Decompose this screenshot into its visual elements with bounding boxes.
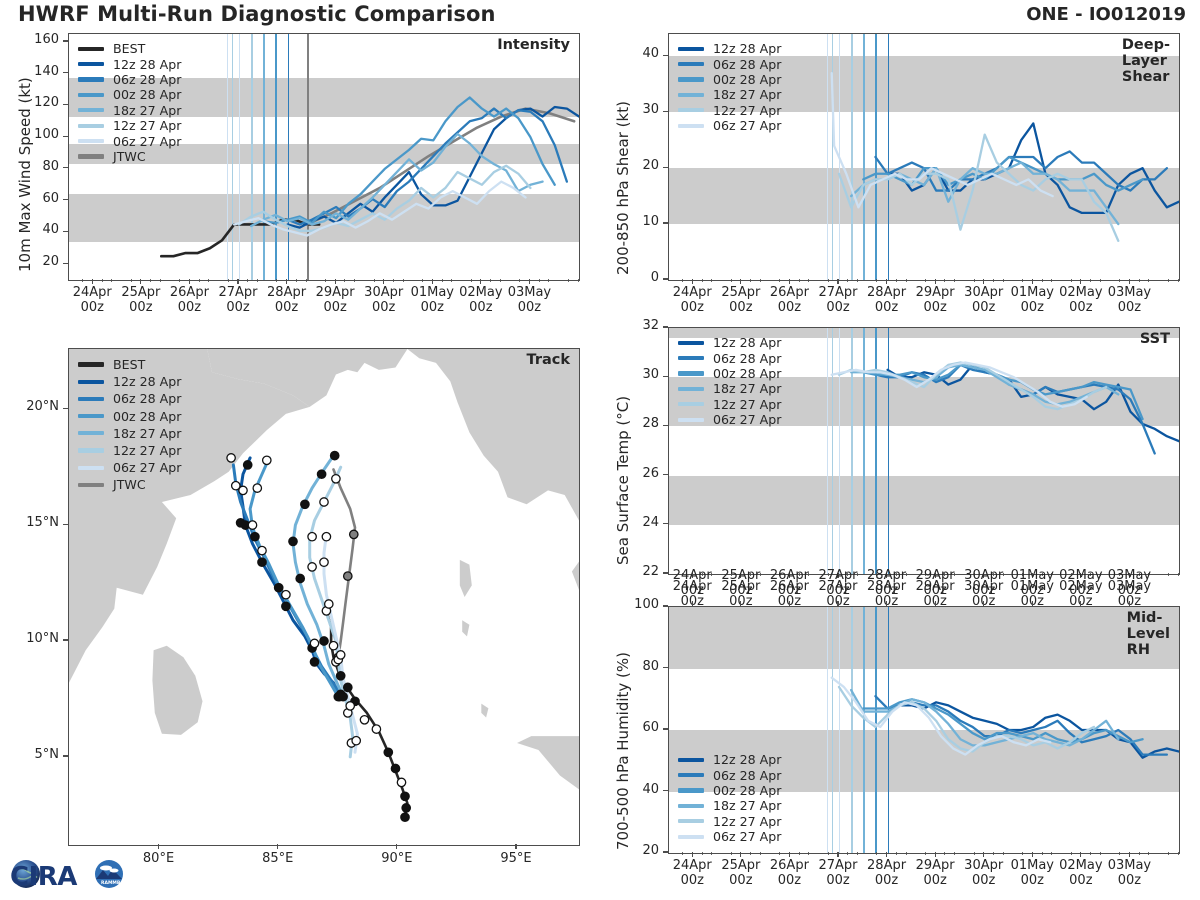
legend-item: 06z 28 Apr	[678, 56, 781, 71]
legend-color-swatch	[678, 773, 704, 777]
legend-color-swatch	[678, 758, 704, 762]
legend-color-swatch	[78, 362, 104, 366]
legend-color-swatch	[78, 108, 104, 112]
shear-y-axis-title: 200-850 hPa Shear (kt)	[614, 101, 632, 275]
legend-item: BEST	[78, 41, 181, 56]
y-tick-label: 80	[42, 159, 59, 174]
legend-color-swatch	[678, 371, 704, 375]
legend-color-swatch	[678, 77, 704, 81]
legend-track: BEST12z 28 Apr06z 28 Apr00z 28 Apr18z 27…	[78, 356, 181, 494]
y-tick-label: 80	[642, 659, 659, 674]
x-tick-label: 03May00z	[1093, 286, 1165, 316]
legend-color-swatch	[78, 397, 104, 401]
legend-label: 12z 28 Apr	[713, 752, 781, 767]
legend-item: JTWC	[78, 149, 181, 164]
legend-item: 12z 28 Apr	[78, 56, 181, 71]
track-point-marker	[232, 482, 240, 490]
legend-color-swatch	[78, 124, 104, 128]
legend-label: 18z 27 Apr	[713, 381, 781, 396]
x-tick-label: 02May00z	[1045, 859, 1117, 889]
series-line	[832, 362, 1087, 406]
y-tick-label: 32	[642, 318, 659, 333]
x-tick-label: 25Apr00z	[105, 286, 177, 316]
cira-logo: CIRA RAMMB	[6, 848, 124, 896]
lat-tick-label: 5°N	[35, 747, 60, 762]
landmass-sri-lanka	[152, 646, 202, 735]
legend-label: 06z 28 Apr	[713, 351, 781, 366]
legend-color-swatch	[78, 431, 104, 435]
legend-label: 12z 28 Apr	[113, 374, 181, 389]
legend-color-swatch	[678, 356, 704, 360]
legend-color-swatch	[78, 47, 104, 51]
legend-label: 06z 27 Apr	[113, 460, 181, 475]
track-point-marker	[397, 778, 405, 786]
legend-label: 12z 27 Apr	[113, 118, 181, 133]
x-tick-label: 01May00z	[996, 859, 1068, 889]
legend-color-swatch	[78, 483, 104, 487]
svg-text:CIRA: CIRA	[10, 862, 77, 892]
track-point-marker	[346, 702, 354, 710]
track-point-marker	[301, 500, 309, 508]
track-point-marker	[244, 461, 252, 469]
track-point-marker	[258, 558, 266, 566]
legend-color-swatch	[78, 448, 104, 452]
track-point-marker	[339, 693, 347, 701]
y-tick-label: 40	[642, 782, 659, 797]
lon-tick-label: 80°E	[123, 852, 195, 867]
series-line	[161, 220, 319, 257]
track-point-marker	[320, 498, 328, 506]
track-point-marker	[391, 764, 399, 772]
x-tick-label: 26Apr00z	[753, 286, 825, 316]
x-tick-label: 26Apr00z	[753, 859, 825, 889]
legend-color-swatch	[678, 804, 704, 808]
x-tick-label: 03May00z	[493, 286, 565, 316]
series-line	[863, 157, 1142, 191]
legend-item: 06z 27 Apr	[678, 412, 781, 427]
x-tick-label: 30Apr00z	[948, 286, 1020, 316]
track-point-marker	[227, 454, 235, 462]
track-point-marker	[263, 456, 271, 464]
legend-item: 12z 27 Apr	[678, 103, 781, 118]
x-tick-label: 24Apr00z	[656, 286, 728, 316]
track-point-marker	[360, 716, 368, 724]
y-tick-label: 60	[642, 720, 659, 735]
page-title: HWRF Multi-Run Diagnostic Comparison	[18, 2, 496, 26]
lon-tick-label: 95°E	[480, 852, 552, 867]
track-point-marker	[344, 572, 352, 580]
legend-label: 18z 27 Apr	[713, 798, 781, 813]
lat-tick-label: 20°N	[26, 399, 59, 414]
x-tick-label: 30Apr00z	[948, 859, 1020, 889]
track-point-marker	[248, 521, 256, 529]
legend-color-swatch	[678, 418, 704, 422]
lat-tick-label: 10°N	[26, 631, 59, 646]
legend-color-swatch	[678, 387, 704, 391]
x-tick-label: 24Apr00z	[656, 859, 728, 889]
legend-label: 00z 28 Apr	[713, 366, 781, 381]
legend-item: 18z 27 Apr	[78, 103, 181, 118]
legend-item: 06z 27 Apr	[78, 133, 181, 148]
track-point-marker	[282, 602, 290, 610]
legend-color-swatch	[678, 402, 704, 406]
track-point-marker	[402, 804, 410, 812]
landmass-myanmar	[407, 349, 580, 590]
y-tick-label: 140	[34, 64, 59, 79]
track-point-marker	[384, 748, 392, 756]
legend-item: 12z 27 Apr	[678, 397, 781, 412]
landmass-nicobar	[481, 704, 488, 718]
legend-item: 06z 28 Apr	[78, 390, 181, 407]
legend-item: 12z 28 Apr	[78, 373, 181, 390]
legend-label: 12z 27 Apr	[113, 443, 181, 458]
y-tick-label: 120	[34, 95, 59, 110]
legend-color-swatch	[678, 93, 704, 97]
series-line	[251, 134, 542, 226]
x-tick-label: 28Apr00z	[251, 286, 323, 316]
legend-item: 00z 28 Apr	[78, 408, 181, 425]
legend-label: 00z 28 Apr	[713, 783, 781, 798]
x-tick-label: 26Apr00z	[153, 286, 225, 316]
x-tick-label: 01May00z	[996, 286, 1068, 316]
x-tick-label: 03May00z	[1093, 859, 1165, 889]
legend-color-swatch	[78, 62, 104, 66]
legend-item: 00z 28 Apr	[78, 87, 181, 102]
legend-item: 06z 28 Apr	[678, 350, 781, 365]
x-tick-label: 27Apr00z	[802, 286, 874, 316]
y-tick-label: 100	[634, 597, 659, 612]
x-tick-label: 25Apr00z	[705, 286, 777, 316]
track-point-marker	[275, 584, 283, 592]
legend-color-swatch	[78, 93, 104, 97]
legend-label: 00z 28 Apr	[113, 87, 181, 102]
x-tick-label: 24Apr00z	[56, 286, 128, 316]
track-point-marker	[320, 637, 328, 645]
legend-label: 12z 28 Apr	[713, 41, 781, 56]
legend-color-swatch	[78, 139, 104, 143]
legend-item: 06z 27 Apr	[678, 118, 781, 133]
x-tick-label: 27Apr00z	[202, 286, 274, 316]
legend-label: 12z 27 Apr	[713, 814, 781, 829]
lat-tick-label: 15°N	[26, 515, 59, 530]
y-tick-label: 100	[34, 127, 59, 142]
legend-item: 18z 27 Apr	[78, 425, 181, 442]
y-tick-label: 0	[651, 270, 659, 285]
legend-item: 12z 27 Apr	[78, 118, 181, 133]
track-point-marker	[253, 484, 261, 492]
legend-label: 12z 27 Apr	[713, 103, 781, 118]
rh-panel-label: Mid-Level RH	[1127, 610, 1170, 658]
legend-color-swatch	[78, 154, 104, 158]
track-point-marker	[310, 658, 318, 666]
track-point-marker	[325, 600, 333, 608]
legend-label: 12z 27 Apr	[713, 397, 781, 412]
track-point-marker	[337, 672, 345, 680]
track-point-marker	[332, 475, 340, 483]
legend-label: 06z 27 Apr	[713, 412, 781, 427]
track-point-marker	[322, 533, 330, 541]
track-point-marker	[401, 792, 409, 800]
legend-color-swatch	[678, 124, 704, 128]
track-panel-label: Track	[527, 352, 570, 368]
track-point-marker	[258, 546, 266, 554]
track-point-marker	[350, 530, 358, 538]
y-tick-label: 40	[42, 222, 59, 237]
track-point-marker	[344, 683, 352, 691]
track-point-marker	[337, 651, 345, 659]
track-point-marker	[308, 563, 316, 571]
legend-label: 12z 28 Apr	[713, 335, 781, 350]
legend-item: BEST	[78, 356, 181, 373]
legend-item: 12z 28 Apr	[678, 752, 781, 767]
track-point-marker	[282, 591, 290, 599]
legend-label: 06z 27 Apr	[713, 829, 781, 844]
track-point-marker	[372, 725, 380, 733]
legend-label: 18z 27 Apr	[113, 426, 181, 441]
track-point-marker	[320, 558, 328, 566]
shear-panel-label: Deep-Layer Shear	[1122, 37, 1170, 85]
legend-item: 00z 28 Apr	[678, 783, 781, 798]
legend-color-swatch	[78, 414, 104, 418]
track-point-marker	[310, 639, 318, 647]
legend-shear: 12z 28 Apr06z 28 Apr00z 28 Apr18z 27 Apr…	[678, 41, 781, 133]
lon-tick-label: 90°E	[361, 852, 433, 867]
x-tick-label: 25Apr00z	[705, 859, 777, 889]
landmass-sumatra	[517, 736, 579, 789]
x-tick-label: 28Apr00z	[851, 286, 923, 316]
x-tick-label: 29Apr00z	[899, 859, 971, 889]
track-point-marker	[308, 533, 316, 541]
legend-color-swatch	[678, 47, 704, 51]
y-tick-label: 20	[42, 254, 59, 269]
legend-label: 06z 28 Apr	[713, 768, 781, 783]
track-point-marker	[317, 470, 325, 478]
legend-label: JTWC	[113, 149, 146, 164]
x-tick-label: 27Apr00z	[802, 859, 874, 889]
legend-sst: 12z 28 Apr06z 28 Apr00z 28 Apr18z 27 Apr…	[678, 335, 781, 427]
track-point-marker	[251, 533, 259, 541]
y-tick-label: 160	[34, 32, 59, 47]
x-tick-label: 02May00z	[1045, 286, 1117, 316]
legend-item: 00z 28 Apr	[678, 72, 781, 87]
series-line	[307, 109, 574, 225]
track-point-marker	[289, 537, 297, 545]
sst-panel-label: SST	[1140, 331, 1170, 347]
sst-y-axis-title: Sea Surface Temp (°C)	[614, 396, 632, 565]
x-tick-label: 28Apr00z	[851, 859, 923, 889]
track-line	[334, 470, 356, 658]
legend-label: 06z 27 Apr	[713, 118, 781, 133]
legend-color-swatch	[78, 77, 104, 81]
y-tick-label: 26	[642, 466, 659, 481]
track-point-marker	[352, 737, 360, 745]
track-point-marker	[331, 451, 339, 459]
landmass-andaman	[460, 560, 472, 597]
x-tick-label: 29Apr00z	[899, 286, 971, 316]
legend-item: 06z 27 Apr	[678, 829, 781, 844]
legend-item: 06z 28 Apr	[678, 767, 781, 782]
legend-label: 06z 28 Apr	[113, 391, 181, 406]
legend-rh: 12z 28 Apr06z 28 Apr00z 28 Apr18z 27 Apr…	[678, 752, 781, 844]
x-tick-label: 02May00z	[445, 286, 517, 316]
legend-label: 18z 27 Apr	[113, 103, 181, 118]
legend-color-swatch	[678, 835, 704, 839]
legend-label: BEST	[113, 41, 145, 56]
legend-item: 12z 27 Apr	[678, 814, 781, 829]
legend-item: 00z 28 Apr	[678, 366, 781, 381]
legend-color-swatch	[678, 341, 704, 345]
track-point-marker	[329, 642, 337, 650]
legend-color-swatch	[78, 380, 104, 384]
y-tick-label: 24	[642, 515, 659, 530]
legend-item: 12z 27 Apr	[78, 442, 181, 459]
intensity-panel-label: Intensity	[497, 37, 570, 53]
x-tick-label: 29Apr00z	[299, 286, 371, 316]
y-tick-label: 10	[642, 214, 659, 229]
track-point-marker	[401, 813, 409, 821]
legend-item: 12z 28 Apr	[678, 335, 781, 350]
y-tick-label: 30	[642, 367, 659, 382]
storm-id-title: ONE - IO012019	[1026, 4, 1186, 25]
x-tick-label: 01May00z	[396, 286, 468, 316]
legend-color-swatch	[678, 62, 704, 66]
legend-label: 00z 28 Apr	[713, 72, 781, 87]
y-tick-label: 22	[642, 564, 659, 579]
legend-item: JTWC	[78, 476, 181, 493]
legend-color-swatch	[678, 819, 704, 823]
x-tick-label: 30Apr00z	[348, 286, 420, 316]
legend-label: JTWC	[113, 477, 146, 492]
legend-item: 18z 27 Apr	[678, 87, 781, 102]
intensity-y-axis-title: 10m Max Wind Speed (kt)	[16, 77, 34, 272]
track-point-marker	[296, 574, 304, 582]
series-line	[839, 135, 1118, 241]
legend-item: 18z 27 Apr	[678, 381, 781, 396]
rh-y-axis-title: 700-500 hPa Humidity (%)	[614, 652, 632, 850]
legend-label: 06z 28 Apr	[113, 72, 181, 87]
lon-tick-label: 85°E	[242, 852, 314, 867]
legend-label: 06z 28 Apr	[713, 57, 781, 72]
legend-intensity: BEST12z 28 Apr06z 28 Apr00z 28 Apr18z 27…	[78, 41, 181, 164]
landmass-andaman-south	[462, 620, 469, 636]
legend-item: 06z 28 Apr	[78, 72, 181, 87]
legend-color-swatch	[78, 466, 104, 470]
y-tick-label: 20	[642, 158, 659, 173]
legend-label: 12z 28 Apr	[113, 57, 181, 72]
legend-label: 06z 27 Apr	[113, 134, 181, 149]
y-tick-label: 28	[642, 416, 659, 431]
legend-item: 06z 27 Apr	[78, 459, 181, 476]
legend-label: 00z 28 Apr	[113, 409, 181, 424]
track-point-marker	[236, 519, 244, 527]
y-tick-label: 20	[642, 843, 659, 858]
legend-item: 12z 28 Apr	[678, 41, 781, 56]
legend-label: BEST	[113, 357, 145, 372]
y-tick-label: 60	[42, 191, 59, 206]
y-tick-label: 40	[642, 46, 659, 61]
legend-color-swatch	[678, 108, 704, 112]
y-tick-label: 30	[642, 102, 659, 117]
legend-item: 18z 27 Apr	[678, 798, 781, 813]
legend-color-swatch	[678, 788, 704, 792]
svg-text:RAMMB: RAMMB	[101, 880, 121, 886]
legend-label: 18z 27 Apr	[713, 87, 781, 102]
